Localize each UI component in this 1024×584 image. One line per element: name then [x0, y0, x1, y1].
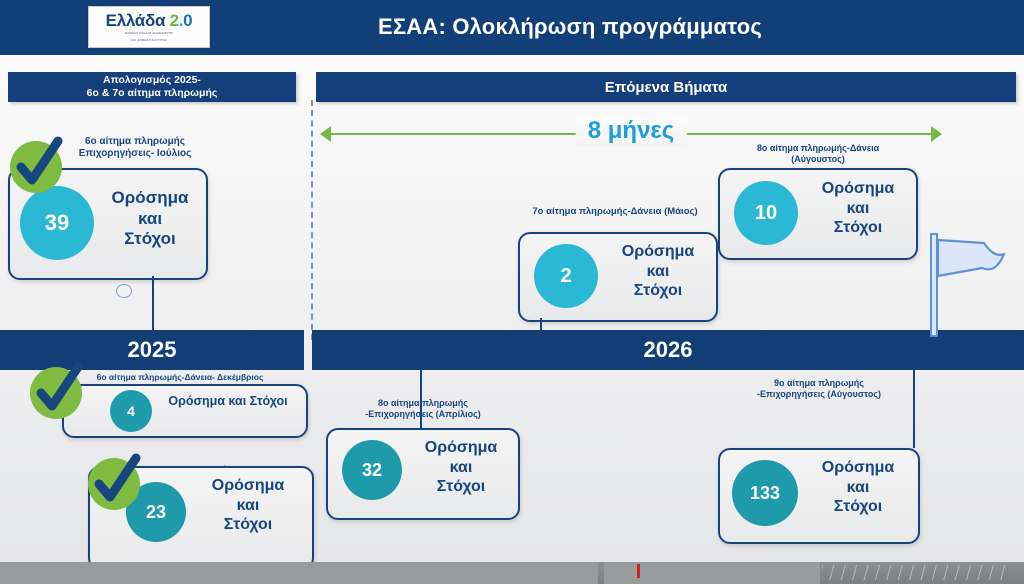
milestone-label-line3: Στόχοι — [606, 281, 710, 301]
milestone-count-133: 133 — [732, 460, 798, 526]
milestone-label-line3: Στόχοι — [806, 218, 910, 238]
milestone-label-2: Ορόσημα και Στόχοι — [606, 242, 710, 301]
title-bar: Ελλάδα 2.0 ΕΘΝΙΚΟ ΣΧΕΔΙΟ ΑΝΑΚΑΜΨΗΣ ΚΑΙ Α… — [0, 0, 1024, 55]
connector-39 — [152, 276, 154, 330]
timeline-divider — [311, 100, 313, 340]
logo-number-0: 0 — [183, 11, 192, 30]
check-icon — [10, 141, 62, 193]
connector-32 — [420, 370, 422, 428]
connector-133 — [913, 370, 915, 448]
milestone-label-4: Ορόσημα και Στόχοι — [160, 394, 296, 409]
milestone-label-line3: Στόχοι — [98, 229, 202, 250]
card-caption-10: 8ο αίτημα πληρωμής-Δάνεια (Αύγουστος) — [728, 143, 908, 165]
arrow-head-left-icon — [320, 126, 331, 142]
player-segment-left[interactable] — [0, 562, 598, 584]
card-caption-2: 7ο αίτημα πληρωμής-Δάνεια (Μάιος) — [505, 206, 725, 217]
milestone-label-line2: και — [806, 199, 910, 219]
decorative-mark-icon — [116, 284, 132, 298]
check-icon — [30, 367, 82, 419]
milestone-count-32: 32 — [342, 440, 402, 500]
video-player-strip[interactable] — [0, 562, 1024, 584]
section-header-past-line1: Απολογισμός 2025- — [87, 74, 218, 87]
section-header-next: Επόμενα Βήματα — [316, 72, 1016, 102]
milestone-label-line2: και — [806, 478, 910, 498]
milestone-label-10: Ορόσημα και Στόχοι — [806, 179, 910, 238]
logo-subtitle-line2: ΚΑΙ ΑΝΘΕΚΤΙΚΟΤΗΤΑΣ — [131, 38, 167, 43]
milestone-label-line1: Ορόσημα — [98, 188, 202, 209]
logo-subtitle-line1: ΕΘΝΙΚΟ ΣΧΕΔΙΟ ΑΝΑΚΑΜΨΗΣ — [125, 31, 173, 36]
milestone-label-line1: Ορόσημα — [806, 458, 910, 478]
milestone-label-line1: Ορόσημα — [806, 179, 910, 199]
player-ticks — [822, 565, 1012, 580]
milestone-card-4[interactable]: 4 Ορόσημα και Στόχοι — [62, 384, 308, 438]
section-header-past: Απολογισμός 2025- 6ο & 7ο αίτημα πληρωμή… — [8, 72, 296, 102]
card-caption-39: 6ο αίτημα πληρωμής Επιχορηγήσεις- Ιούλιο… — [55, 136, 215, 160]
section-header-past-line2: 6ο & 7ο αίτημα πληρωμής — [87, 87, 218, 100]
logo-text: Ελλάδα — [106, 11, 165, 30]
milestone-label-line1: Ορόσημα — [194, 476, 302, 496]
check-icon — [88, 458, 140, 510]
greece-2-0-logo: Ελλάδα 2.0 ΕΘΝΙΚΟ ΣΧΕΔΙΟ ΑΝΑΚΑΜΨΗΣ ΚΑΙ Α… — [88, 6, 210, 48]
span-label: 8 μήνες — [576, 116, 687, 146]
milestone-label-line2: και — [98, 209, 202, 230]
milestone-label-line3: Στόχοι — [410, 477, 512, 497]
milestone-label-39: Ορόσημα και Στόχοι — [98, 188, 202, 250]
milestone-label-line3: Στόχοι — [806, 497, 910, 517]
milestone-label-line1: Ορόσημα — [410, 438, 512, 458]
player-position-marker[interactable] — [637, 564, 640, 578]
page-title: ΕΣΑΑ: Ολοκλήρωση προγράμματος — [300, 12, 840, 42]
duration-span-arrow: 8 μήνες — [320, 122, 942, 144]
milestone-card-10[interactable]: 10 Ορόσημα και Στόχοι — [718, 168, 918, 260]
milestone-label-23: Ορόσημα και Στόχοι — [194, 476, 302, 535]
milestone-count-10: 10 — [734, 181, 798, 245]
milestone-count-2: 2 — [534, 244, 598, 308]
milestone-label-line3: Στόχοι — [194, 515, 302, 535]
milestone-card-2[interactable]: 2 Ορόσημα και Στόχοι — [518, 232, 718, 322]
arrow-head-right-icon — [931, 126, 942, 142]
card-caption-32: 8ο αίτημα πληρωμής -Επιχορηγήσεις (Απρίλ… — [328, 398, 518, 420]
milestone-card-32[interactable]: 32 Ορόσημα και Στόχοι — [326, 428, 520, 520]
milestone-label-line2: και — [410, 458, 512, 478]
milestone-count-39: 39 — [20, 186, 94, 260]
milestone-label-line2: και — [606, 262, 710, 282]
milestone-count-4: 4 — [110, 390, 152, 432]
milestone-label-32: Ορόσημα και Στόχοι — [410, 438, 512, 497]
milestone-card-133[interactable]: 133 Ορόσημα και Στόχοι — [718, 448, 920, 544]
slide-canvas: Ελλάδα 2.0 ΕΘΝΙΚΟ ΣΧΕΔΙΟ ΑΝΑΚΑΜΨΗΣ ΚΑΙ Α… — [0, 0, 1024, 584]
milestone-label-line2: και — [194, 496, 302, 516]
connector-2 — [540, 318, 542, 330]
logo-wordmark: Ελλάδα 2.0 — [106, 12, 193, 29]
milestone-label-line1: Ορόσημα — [606, 242, 710, 262]
card-caption-133: 9ο αίτημα πληρωμής -Επιχορηγήσεις (Αύγου… — [722, 378, 916, 400]
year-band-2026: 2026 — [312, 330, 1024, 370]
milestone-label-133: Ορόσημα και Στόχοι — [806, 458, 910, 517]
card-caption-4: 6ο αίτημα πληρωμής-Δάνεια- Δεκέμβριος — [64, 372, 296, 382]
logo-number-2: 2 — [170, 11, 179, 30]
flag-icon — [924, 232, 1010, 338]
